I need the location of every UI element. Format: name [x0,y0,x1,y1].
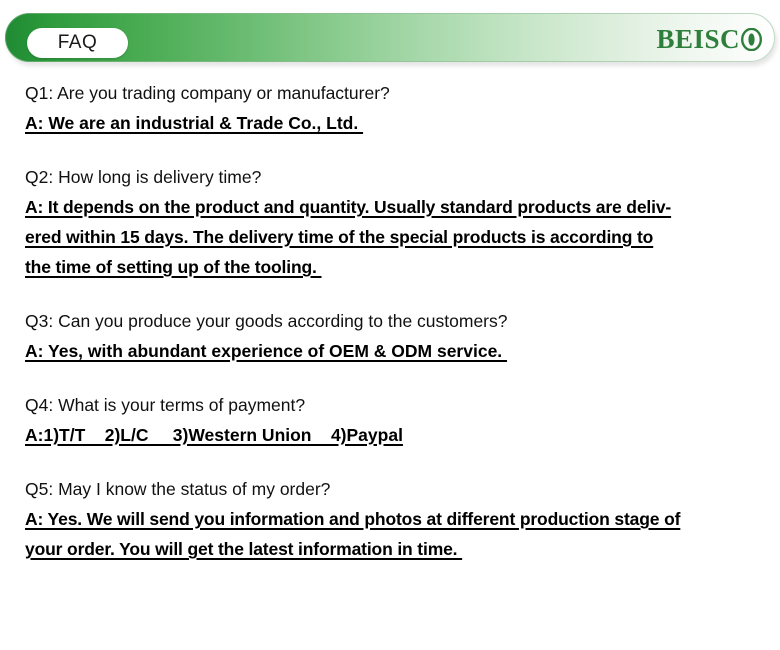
faq-answer: A: It depends on the product and quantit… [25,192,757,282]
faq-item: Q4: What is your terms of payment? A:1)T… [25,390,757,450]
faq-answer: A: We are an industrial & Trade Co., Ltd… [25,108,757,138]
faq-tab-label: FAQ [58,32,98,54]
faq-answer-line: A: We are an industrial & Trade Co., Ltd… [25,108,363,138]
faq-answer-line: A: Yes. We will send you information and… [25,504,680,534]
faq-question: Q4: What is your terms of payment? [25,390,757,420]
faq-item: Q1: Are you trading company or manufactu… [25,78,757,138]
faq-tab[interactable]: FAQ [27,28,128,58]
faq-content: Q1: Are you trading company or manufactu… [25,78,757,564]
faq-answer-line: your order. You will get the latest info… [25,534,462,564]
faq-answer: A: Yes. We will send you information and… [25,504,757,564]
faq-answer: A: Yes, with abundant experience of OEM … [25,336,757,366]
faq-item: Q2: How long is delivery time? A: It dep… [25,162,757,282]
faq-answer-line: A: Yes, with abundant experience of OEM … [25,336,507,366]
faq-item: Q5: May I know the status of my order? A… [25,474,757,564]
faq-question: Q3: Can you produce your goods according… [25,306,757,336]
brand-logo-text: BEISC [656,26,740,53]
faq-question: Q2: How long is delivery time? [25,162,757,192]
brand-leaf-o-icon [741,28,762,51]
faq-answer-line: A:1)T/T 2)L/C 3)Western Union 4)Paypal [25,420,403,450]
faq-answer-line: the time of setting up of the tooling. [25,252,321,282]
faq-answer: A:1)T/T 2)L/C 3)Western Union 4)Paypal [25,420,757,450]
faq-item: Q3: Can you produce your goods according… [25,306,757,366]
faq-answer-line: A: It depends on the product and quantit… [25,192,671,222]
faq-question: Q1: Are you trading company or manufactu… [25,78,757,108]
faq-answer-line: ered within 15 days. The delivery time o… [25,222,653,252]
brand-logo: BEISC [656,26,762,53]
faq-question: Q5: May I know the status of my order? [25,474,757,504]
